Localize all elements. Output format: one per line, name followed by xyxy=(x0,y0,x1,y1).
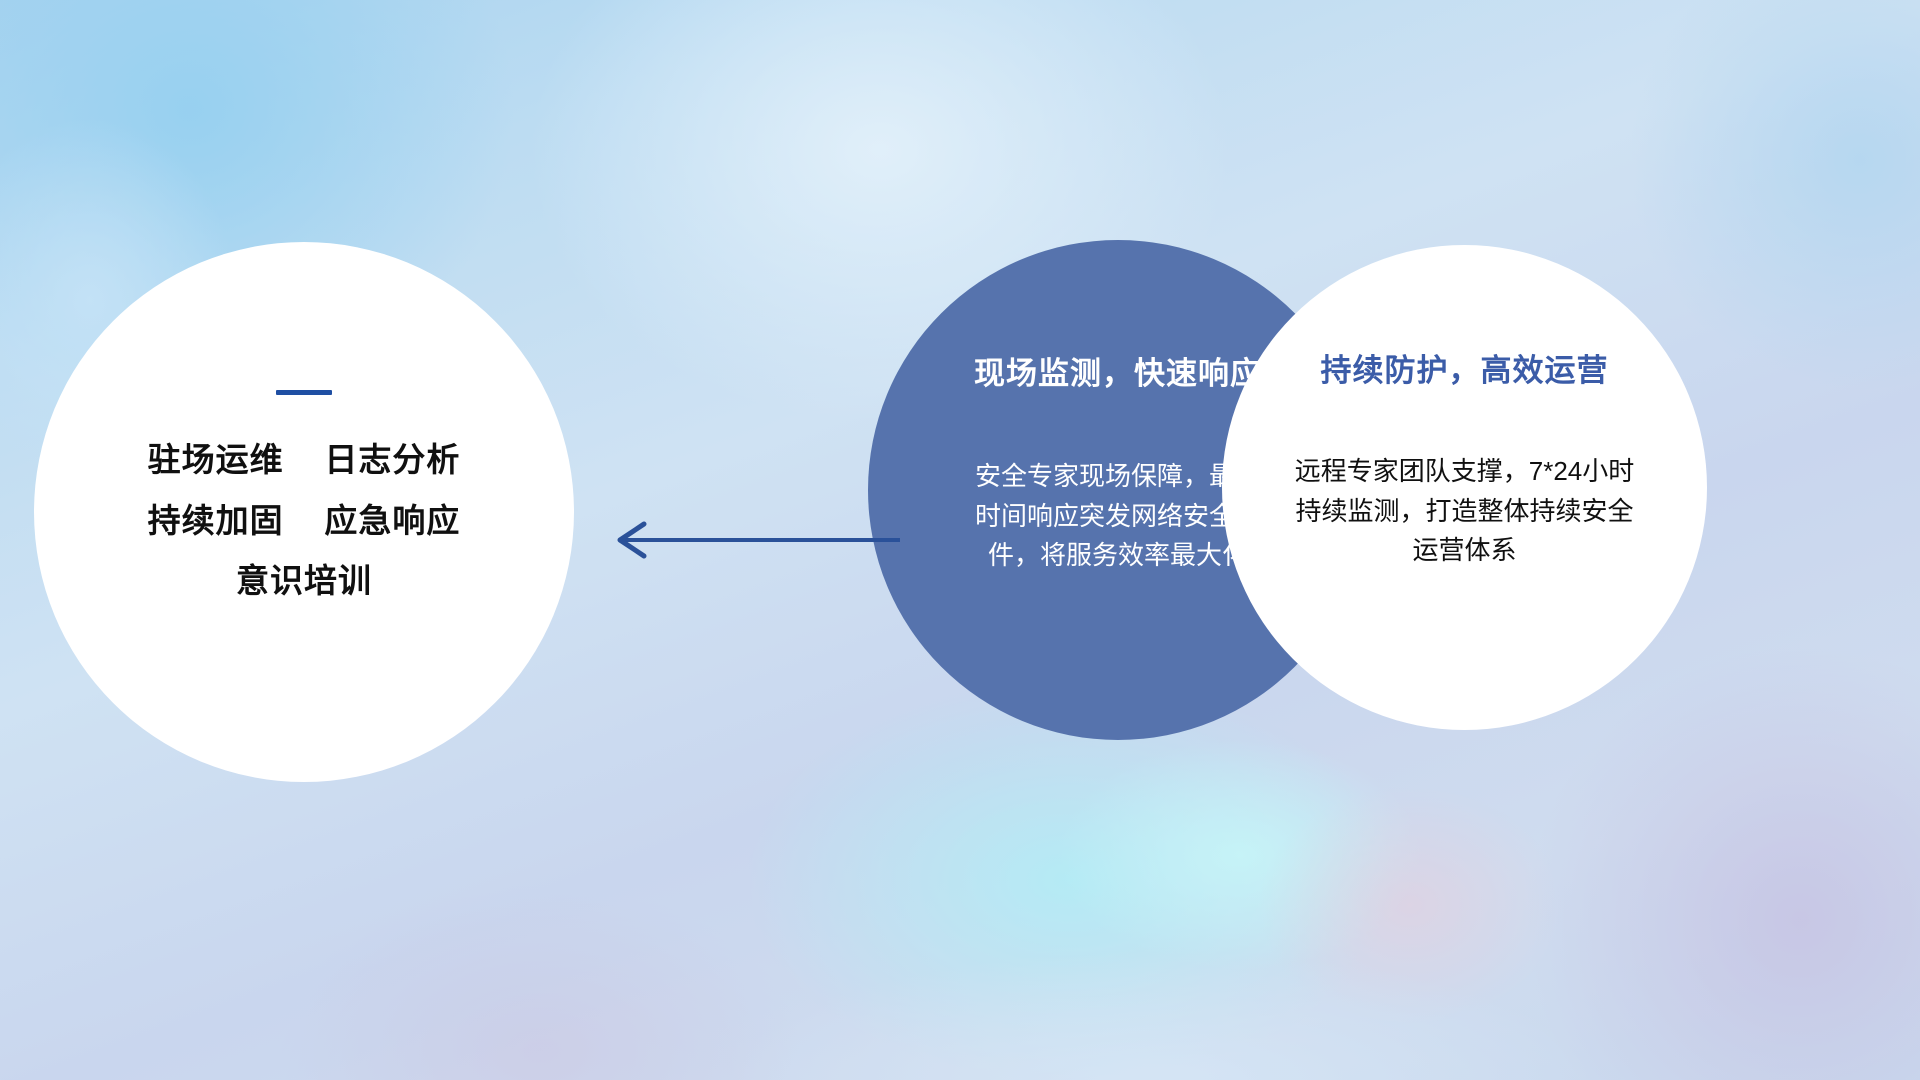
left-circle-keyword-line-1: 驻场运维 日志分析 xyxy=(148,443,461,478)
left-circle-card[interactable]: 驻场运维 日志分析 持续加固 应急响应 意识培训 xyxy=(34,242,574,782)
right-circle-body: 远程专家团队支撑，7*24小时持续监测，打造整体持续安全运营体系 xyxy=(1292,452,1637,571)
left-circle-keyword-line-2: 持续加固 应急响应 xyxy=(148,504,461,539)
right-circle-title: 持续防护，高效运营 xyxy=(1321,345,1609,390)
divider-dash-icon xyxy=(276,390,332,395)
slide-canvas: 驻场运维 日志分析 持续加固 应急响应 意识培训 现场监测，快速响应 安全专家现… xyxy=(0,0,1920,1080)
left-pointing-arrow-icon xyxy=(600,514,900,566)
left-circle-keyword-list: 驻场运维 日志分析 持续加固 应急响应 意识培训 xyxy=(148,443,461,599)
middle-circle-title: 现场监测，快速响应 xyxy=(974,348,1262,393)
right-circle-card[interactable]: 持续防护，高效运营 远程专家团队支撑，7*24小时持续监测，打造整体持续安全运营… xyxy=(1222,245,1707,730)
left-circle-keyword-line-3: 意识培训 xyxy=(236,564,372,599)
